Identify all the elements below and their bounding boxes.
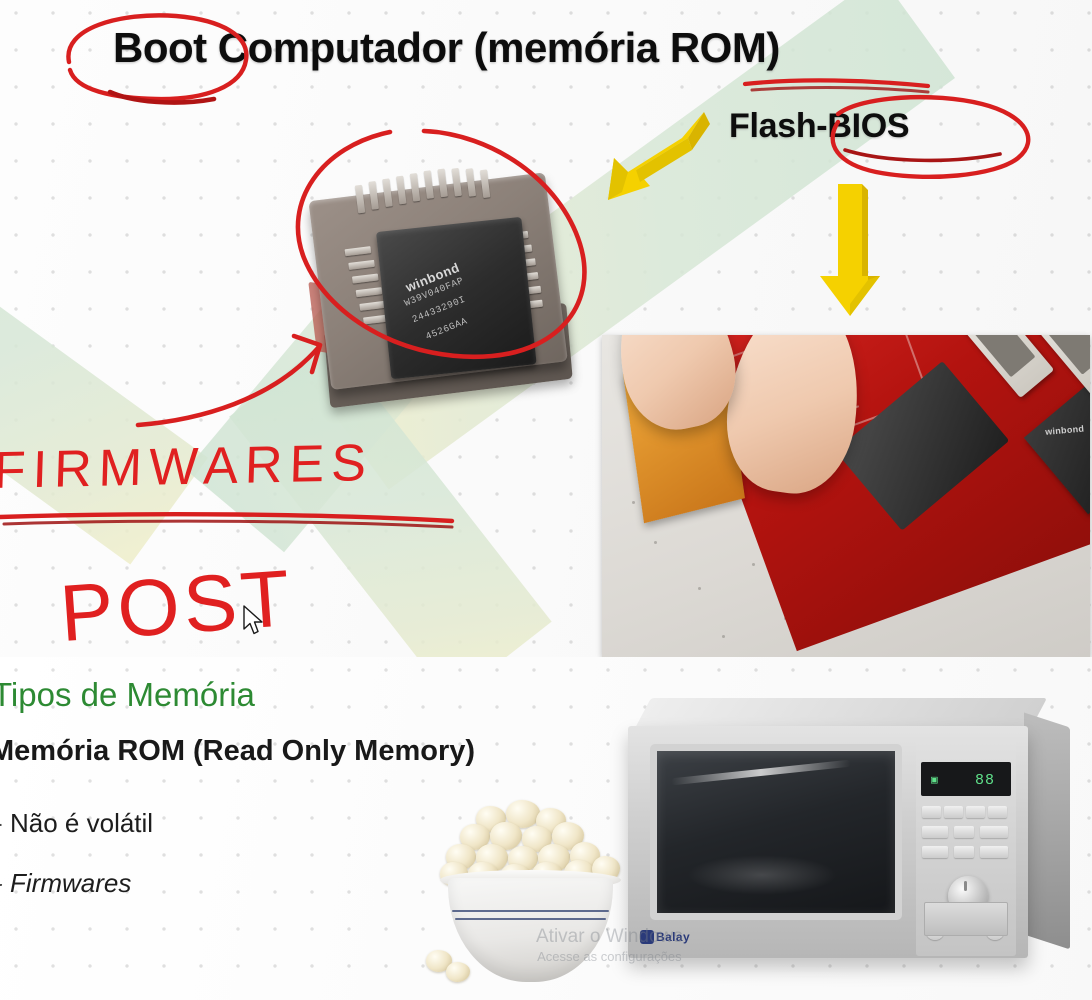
- list-item-label: Não é volátil: [10, 808, 153, 838]
- chip-date-code: 4526GAA: [424, 315, 469, 342]
- flash-bios-title: Flash-BIOS: [729, 107, 909, 146]
- panel-button-9[interactable]: [954, 846, 974, 858]
- panel-button-10[interactable]: [980, 846, 1008, 858]
- yellow-arrow-down-icon: [810, 180, 890, 322]
- panel-button-7[interactable]: [980, 826, 1008, 838]
- chip-socket: winbond W39V040FAP 24433290I 4526GAA: [308, 172, 567, 390]
- panel-button-4[interactable]: [988, 806, 1007, 818]
- panel-button-8[interactable]: [922, 846, 948, 858]
- panel-button-1[interactable]: [922, 806, 941, 818]
- list-item-label: Firmwares: [10, 868, 131, 898]
- handwritten-post: POST: [57, 552, 297, 657]
- section-subtitle: Memória ROM (Read Only Memory): [0, 735, 475, 768]
- windows-activation-watermark: Ativar o Windows Acesse as configurações: [536, 926, 683, 964]
- flash-bios-chip-photo: winbond W39V040FAP 24433290I 4526GAA: [292, 153, 587, 424]
- motherboard-chip-brand: winbond: [1045, 419, 1090, 437]
- slide-boot-computador: winbond W39V040FAP 24433290I 4526GAA win…: [0, 0, 1092, 657]
- microwave-body: ▣ 88 Balay: [628, 726, 1028, 958]
- bullet-dash: -: [0, 868, 10, 899]
- panel-button-2[interactable]: [944, 806, 963, 818]
- chip-die: winbond W39V040FAP 24433290I 4526GAA: [376, 217, 537, 379]
- panel-button-6[interactable]: [954, 826, 974, 838]
- watermark-line-1: Ativar o Windows: [536, 926, 683, 948]
- door-glare-soft: [687, 855, 837, 895]
- list-item: -Firmwares: [0, 868, 131, 899]
- microwave-side: [1024, 713, 1070, 950]
- display-icon: ▣: [931, 773, 939, 787]
- yellow-arrow-down-left-icon: [572, 108, 712, 218]
- display-screen: ▣ 88: [921, 762, 1011, 796]
- section-title: Tipos de Memória: [0, 676, 255, 714]
- door-glare: [671, 760, 851, 786]
- watermark-line-2: Acesse as configurações: [536, 949, 683, 964]
- page-title: Boot Computador (memória ROM): [113, 24, 780, 72]
- microwave-door: [650, 744, 902, 920]
- panel-button-5[interactable]: [922, 826, 948, 838]
- handwritten-firmwares: FIRMWARES: [0, 433, 374, 501]
- panel-button-3[interactable]: [966, 806, 985, 818]
- bios-socket: [835, 361, 1009, 531]
- motherboard-winbond-chip: winbond: [1024, 366, 1090, 515]
- list-item: -Não é volátil: [0, 808, 153, 839]
- bullet-dash: -: [0, 808, 10, 839]
- display-time: 88: [975, 772, 995, 789]
- motherboard-photo: winbond: [602, 335, 1090, 657]
- panel-tray: [924, 902, 1008, 936]
- microwave-oven-photo: ▣ 88 Balay: [628, 698, 1068, 1000]
